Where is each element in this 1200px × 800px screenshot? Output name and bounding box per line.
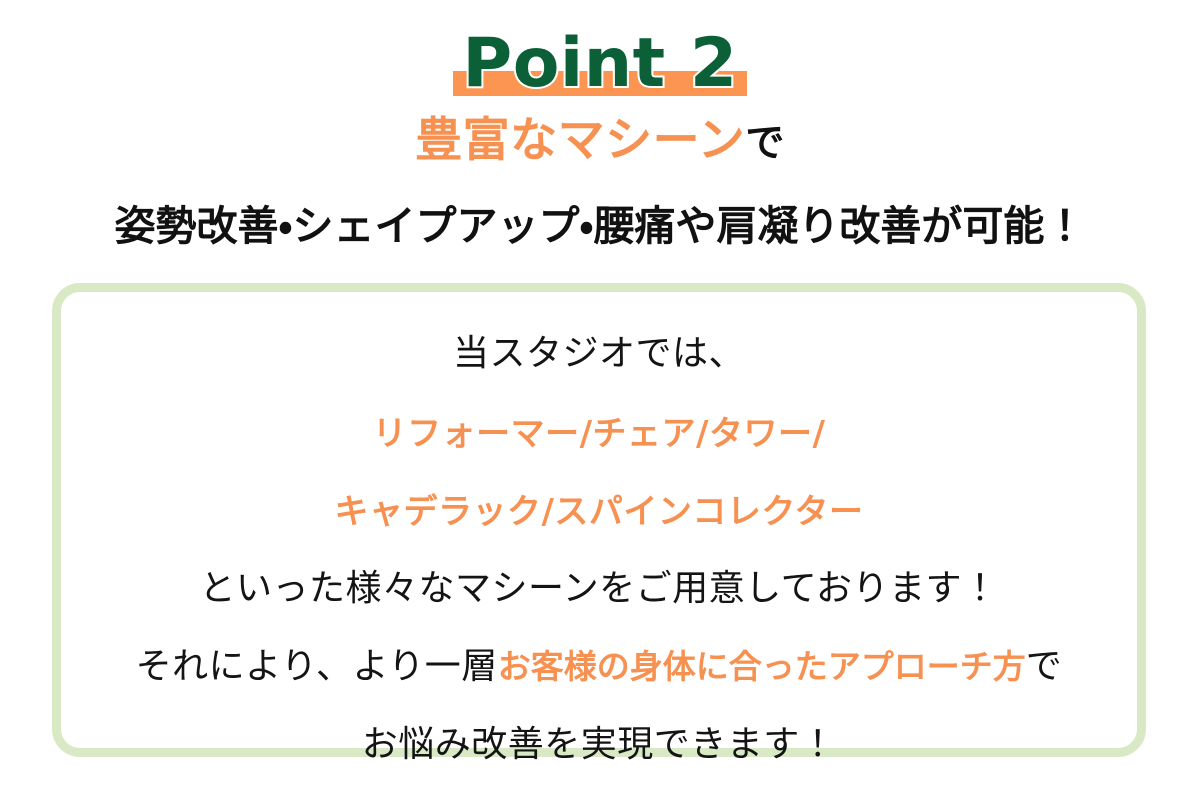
point-heading-label: Point 2 [462, 30, 737, 98]
subheading-accent-text: 豊富なマシーン [415, 113, 745, 168]
card-line-approach-lead: それにより、より一層 [136, 646, 498, 687]
subheading-line-1: 豊富なマシーンで [0, 113, 1200, 168]
card-line-machines-2: キャデラック/スパインコレクター [81, 495, 1117, 529]
subheading-line-2: 姿勢改善・シェイプアップ・腰痛や肩凝り改善が可能！ [0, 202, 1200, 251]
point-2-promo-page: Point 2 豊富なマシーンで 姿勢改善・シェイプアップ・腰痛や肩凝り改善が可… [0, 0, 1200, 800]
point-heading-inner: Point 2 [462, 30, 737, 98]
card-line-approach: それにより、より一層お客様の身体に合ったアプローチ方で [81, 649, 1117, 685]
card-line-variety: といった様々なマシーンをご用意しております！ [81, 571, 1117, 607]
info-card: 当スタジオでは、 リフォーマー/チェア/タワー/ キャデラック/スパインコレクタ… [52, 283, 1146, 757]
point-heading: Point 2 [0, 18, 1200, 110]
card-line-result: お悩み改善を実現できます！ [81, 727, 1117, 763]
card-line-intro: 当スタジオでは、 [81, 336, 1117, 372]
subheading-plain-text: で [745, 121, 785, 166]
card-line-machines-1: リフォーマー/チェア/タワー/ [81, 417, 1117, 451]
card-line-approach-tail: で [1026, 646, 1063, 687]
card-line-approach-accent: お客様の身体に合ったアプローチ方 [498, 647, 1026, 686]
